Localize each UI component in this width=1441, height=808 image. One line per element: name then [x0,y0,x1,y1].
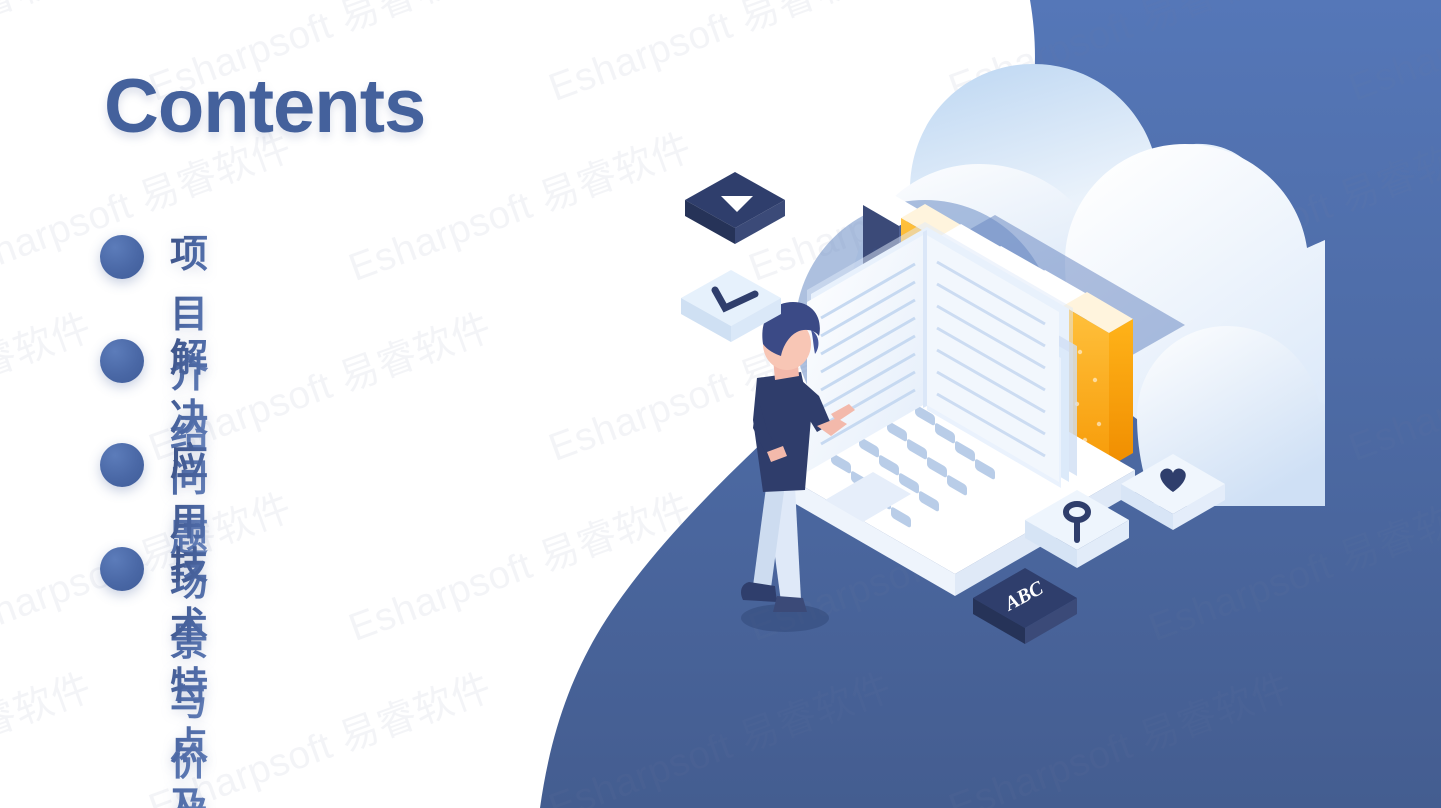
page-title: Contents [104,64,425,150]
illustration-online-library: ABC [625,0,1325,720]
play-tile[interactable] [685,172,785,244]
bullet-dot-icon [100,339,144,383]
abc-tile[interactable]: ABC [973,568,1077,644]
bullet-dot-icon [100,443,144,487]
list-item-label: 技术特点及优势 [170,537,209,808]
bullet-dot-icon [100,547,144,591]
bullet-dot-icon [100,235,144,279]
illustration-svg: ABC [625,0,1325,720]
slide-contents: Esharpsoft 易睿软件 Esharpsoft 易睿软件 Esharpso… [0,0,1441,808]
